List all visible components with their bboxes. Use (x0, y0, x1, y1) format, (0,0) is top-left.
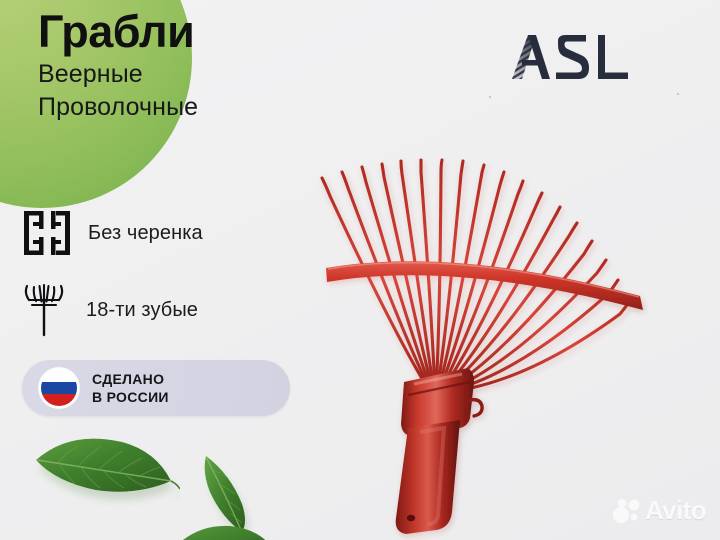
feature-no-handle: Без черенка (18, 206, 203, 260)
bracket-pair-icon (18, 206, 76, 260)
decor-dot-right (677, 93, 679, 95)
russia-flag-circle-icon (39, 368, 79, 408)
page-title: Грабли (38, 8, 198, 57)
made-in-russia-badge: СДЕЛАНО В РОССИИ (22, 360, 290, 416)
product-image-canvas: Грабли Веерные Проволочные (0, 0, 720, 540)
product-subtitle-line-2: Проволочные (38, 92, 198, 124)
green-leaf-icon-1 (30, 432, 180, 510)
feature-teeth-count-label: 18-ти зубые (86, 299, 198, 322)
decor-dot-left (489, 96, 491, 98)
title-block: Грабли Веерные Проволочные (38, 8, 198, 124)
badge-line-2: В РОССИИ (92, 389, 169, 405)
feature-no-handle-label: Без черенка (88, 222, 203, 245)
avito-dots-icon (612, 498, 642, 524)
badge-text: СДЕЛАНО В РОССИИ (92, 370, 169, 407)
avito-watermark: Avito (612, 495, 706, 526)
feature-teeth-count: 18-ти зубые (20, 281, 198, 339)
avito-watermark-label: Avito (645, 495, 706, 526)
fan-rake-icon (20, 281, 68, 339)
product-subtitle-line-1: Веерные (38, 59, 198, 91)
asl-striped-logo-icon (498, 27, 658, 87)
green-leaf-icon-3 (168, 516, 278, 540)
badge-line-1: СДЕЛАНО (92, 371, 164, 387)
